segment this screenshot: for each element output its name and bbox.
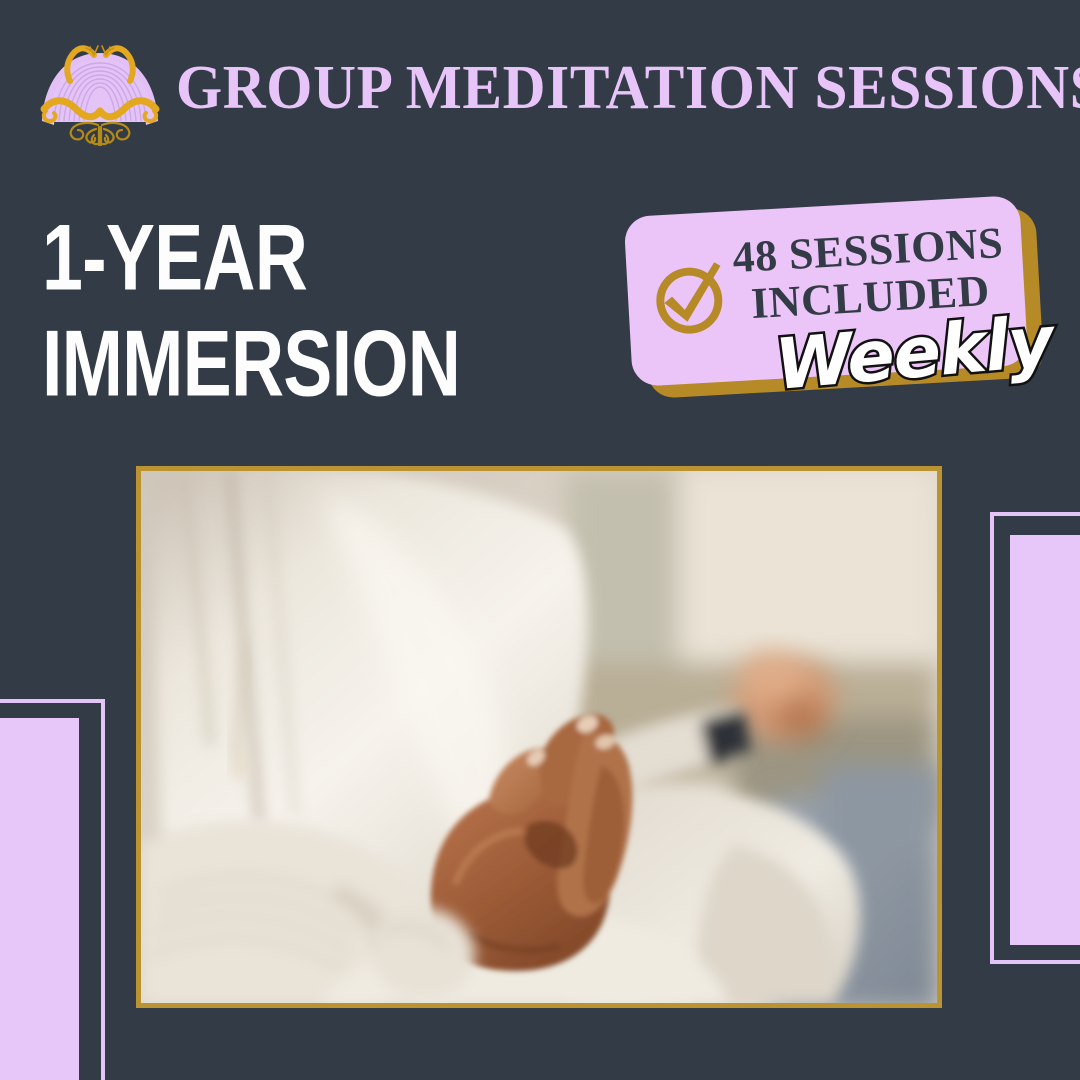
meditation-photo xyxy=(136,466,942,1008)
headline: 1-YEAR IMMERSION xyxy=(42,206,490,418)
headline-line-2: IMMERSION xyxy=(42,312,490,418)
right-filled-rectangle xyxy=(1010,535,1080,945)
poster-canvas: GROUP MEDITATION SESSIONS 1-YEAR IMMERSI… xyxy=(0,0,1080,1080)
check-circle-icon xyxy=(648,260,730,342)
left-filled-rectangle xyxy=(0,718,79,1080)
headline-line-1: 1-YEAR xyxy=(42,206,490,312)
poster-header: GROUP MEDITATION SESSIONS xyxy=(0,26,1080,150)
ornamental-fan-logo-icon xyxy=(36,29,164,147)
page-title: GROUP MEDITATION SESSIONS xyxy=(176,57,1080,120)
